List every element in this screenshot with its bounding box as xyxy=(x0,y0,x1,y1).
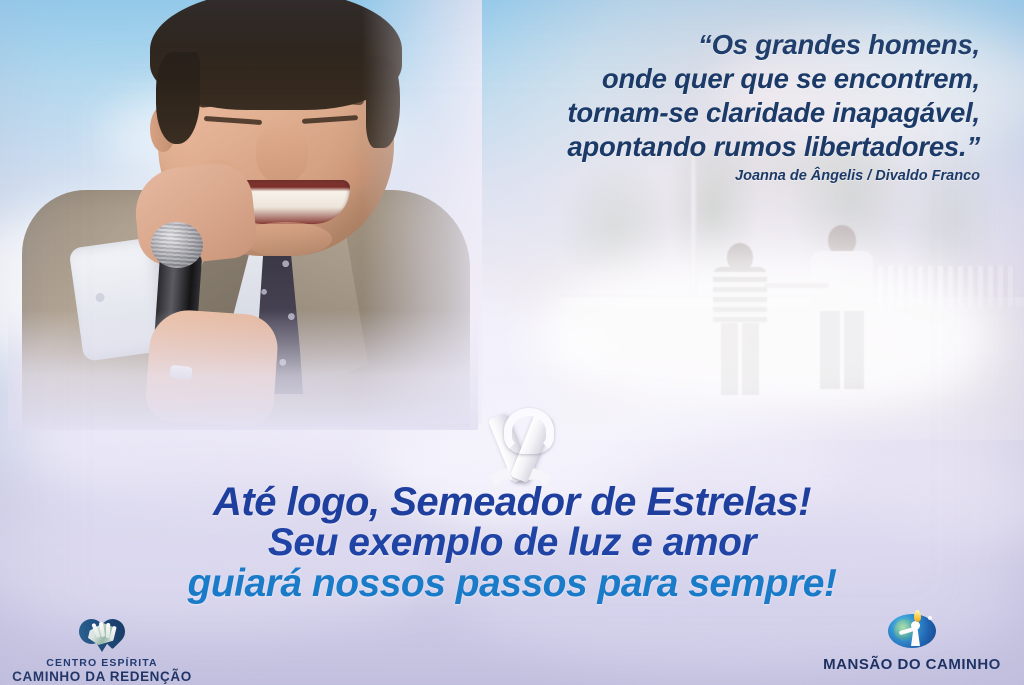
person-striped-shirt xyxy=(713,243,767,417)
quote-text: “Os grandes homens, onde quer que se enc… xyxy=(360,28,980,164)
quote-line-3: tornam-se claridade inapagável, xyxy=(360,96,980,130)
headline-line-3: guiará nossos passos para sempre! xyxy=(0,563,1024,604)
ribbon-loop xyxy=(504,408,554,454)
portrait-bottom-fade xyxy=(8,310,478,430)
quote-line-1: “Os grandes homens, xyxy=(360,28,980,62)
headline-line-1: Até logo, Semeador de Estrelas! xyxy=(0,482,1024,523)
background-photo-two-people xyxy=(560,150,1024,440)
memorial-poster: “Os grandes homens, onde quer que se enc… xyxy=(0,0,1024,685)
heart-hands-icon xyxy=(79,614,125,654)
logo-centro-espirita: CENTRO ESPÍRITA CAMINHO DA REDENÇÃO xyxy=(6,614,198,684)
ground xyxy=(560,307,1024,440)
torso xyxy=(713,267,767,325)
headline-line-2: Seu exemplo de luz e amor xyxy=(0,523,1024,563)
logo-left-line-2: CAMINHO DA REDENÇÃO xyxy=(6,669,198,684)
logo-right-line-1: MANSÃO DO CAMINHO xyxy=(806,656,1018,673)
globe-figure-flame-icon xyxy=(888,610,936,652)
logo-mansao-do-caminho: MANSÃO DO CAMINHO xyxy=(806,610,1018,673)
person-white-shirt xyxy=(811,225,873,416)
white-mourning-ribbon-icon xyxy=(484,408,558,486)
legs xyxy=(721,323,759,395)
headline-text: Até logo, Semeador de Estrelas! Seu exem… xyxy=(0,482,1024,604)
linked-arm xyxy=(764,283,829,288)
quote-attribution: Joanna de Ângelis / Divaldo Franco xyxy=(360,168,980,184)
quote-line-2: onde quer que se encontrem, xyxy=(360,62,980,96)
logo-left-line-1: CENTRO ESPÍRITA xyxy=(6,657,198,669)
figure-head xyxy=(911,621,920,630)
nose xyxy=(256,126,308,184)
flame xyxy=(914,610,921,622)
quote-line-4: apontando rumos libertadores.” xyxy=(360,130,980,164)
legs xyxy=(820,311,864,389)
sparkle-dot xyxy=(928,616,932,620)
